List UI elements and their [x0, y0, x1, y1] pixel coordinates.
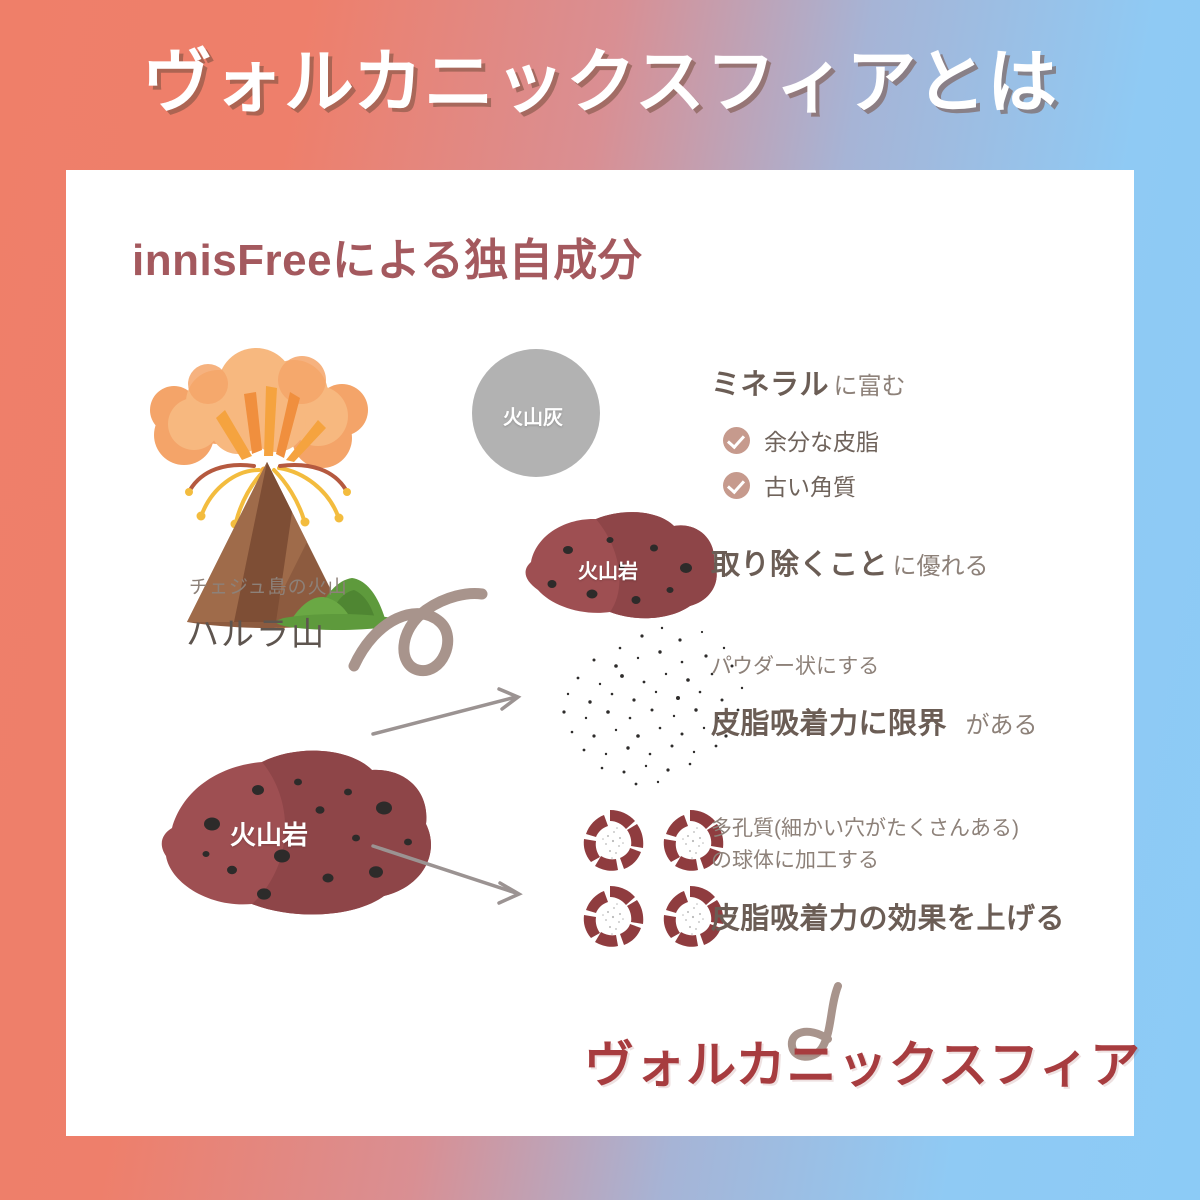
powder-result-strong: 皮脂吸着力に限界 — [711, 708, 947, 740]
volcano-caption-large: ハルラ山 — [186, 607, 326, 655]
small-rock-label: 火山岩 — [578, 555, 638, 584]
mineral-result-strong: 取り除くこと — [711, 549, 888, 581]
check-item-label: 余分な皮脂 — [764, 423, 879, 457]
check-icon — [723, 472, 750, 499]
swirl-arrow-top — [354, 594, 482, 671]
mineral-result: 取り除くこと に優れる — [711, 541, 988, 583]
mineral-heading-light: に富む — [833, 373, 905, 400]
mineral-heading: ミネラル に富む — [711, 361, 905, 403]
sphere-process-line1: 多孔質(細かい穴がたくさんある) — [711, 813, 1019, 845]
powder-process-text: パウダー状にする — [711, 651, 879, 683]
small-rock — [526, 512, 717, 618]
large-rock — [162, 751, 431, 915]
check-item-sebum: 余分な皮脂 — [723, 423, 879, 457]
mineral-heading-strong: ミネラル — [711, 369, 829, 401]
poster-canvas: ヴォルカニックスフィアとは innisFreeによる独自成分 — [0, 0, 1200, 1200]
branch-arrow-up — [373, 689, 518, 734]
ash-circle — [472, 349, 600, 477]
footer-keyword: ヴォルカニックスフィア — [584, 1025, 1141, 1097]
powder-result-light: がある — [951, 712, 1037, 739]
porous-spheres — [584, 810, 723, 947]
mineral-result-light: に優れる — [892, 553, 988, 580]
page-title: ヴォルカニックスフィアとは — [0, 44, 1200, 121]
sphere-result-strong: 皮脂吸着力の効果を上げる — [711, 895, 1065, 937]
check-item-keratin: 古い角質 — [723, 468, 856, 502]
check-item-label: 古い角質 — [764, 468, 856, 502]
large-rock-label: 火山岩 — [230, 815, 308, 852]
ash-circle-label: 火山灰 — [503, 401, 563, 430]
volcano-caption-small: チェジュ島の火山 — [189, 572, 348, 599]
powder-result: 皮脂吸着力に限界 がある — [711, 700, 1037, 742]
branch-arrow-down — [373, 846, 519, 903]
sphere-process-line2: の球体に加工する — [711, 845, 879, 877]
check-icon — [723, 427, 750, 454]
card-subtitle: innisFreeによる独自成分 — [132, 224, 642, 288]
content-card: innisFreeによる独自成分 — [66, 170, 1134, 1136]
